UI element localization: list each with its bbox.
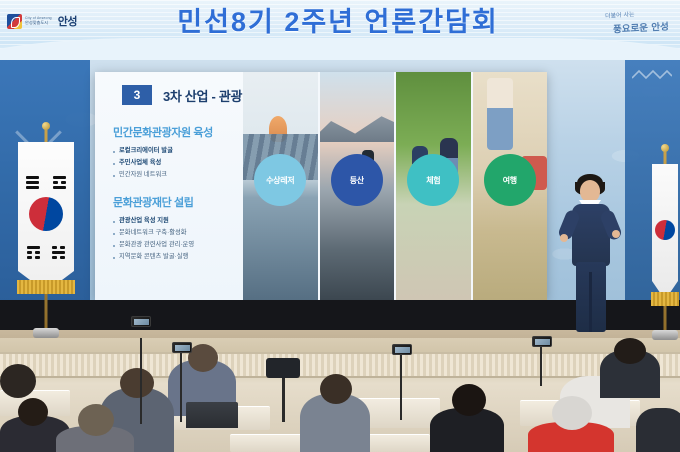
list-item: 로컬크리에이터 발굴	[113, 145, 235, 157]
smartphone-on-tripod	[392, 344, 412, 355]
korean-national-flag	[12, 128, 80, 338]
photo-panel-hiking: 등산	[318, 72, 395, 300]
bullet-list: 관광산업 육성 지원 문화네트워크 구축·활성화 문화관광 관련사업 관리·운영…	[113, 215, 235, 263]
anseong-city-logo-icon	[7, 14, 22, 29]
flag-stand-base	[33, 328, 59, 338]
presenter-left-hand	[560, 234, 568, 242]
flag-cloth	[652, 164, 678, 300]
tripod-leg	[180, 352, 182, 422]
smartphone-on-tripod	[172, 342, 192, 353]
presenter-trousers	[576, 262, 606, 332]
video-camera	[266, 358, 300, 378]
bullet-group: 문화관광재단 설립 관광산업 육성 지원 문화네트워크 구축·활성화 문화관광 …	[113, 194, 235, 263]
presentation-slide: 3 3차 산업 - 관광 STRATEGY 1. 경제 민간문화관광자원 육성 …	[95, 72, 547, 300]
tripod-leg	[282, 378, 285, 422]
list-item: 주민사업체 육성	[113, 157, 235, 169]
city-slogan: 더불어 사는 풍요로운 안성	[599, 10, 677, 40]
projection-screen: 3 3차 산업 - 관광 STRATEGY 1. 경제 민간문화관광자원 육성 …	[95, 72, 547, 300]
list-item: 민간자원 네트워크	[113, 169, 235, 181]
city-logo-kr-small: 안성맞춤도시	[25, 21, 52, 25]
screenshot-root: 3 3차 산업 - 관광 STRATEGY 1. 경제 민간문화관광자원 육성 …	[0, 0, 680, 452]
audience-area	[0, 338, 680, 452]
bullet-group-heading: 문화관광재단 설립	[113, 194, 235, 210]
event-banner: City of Anseong 안성맞춤도시 안성 민선8기 2주년 언론간담회…	[0, 0, 680, 60]
attendee-head	[18, 398, 48, 426]
slide-photo-strip: 수상레저 등산 체험 여행	[243, 72, 547, 300]
tripod-leg	[140, 338, 142, 424]
tripod-leg	[540, 346, 542, 386]
presenter-right-hand	[612, 230, 620, 238]
city-flag	[648, 150, 680, 340]
bullet-list: 로컬크리에이터 발굴 주민사업체 육성 민간자원 네트워크	[113, 145, 235, 181]
attendee-head	[188, 344, 218, 372]
attendee-head	[552, 396, 592, 430]
flag-cloth	[18, 142, 74, 292]
list-item: 문화네트워크 구축·활성화	[113, 227, 235, 239]
bullet-group: 민간문화관광자원 육성 로컬크리에이터 발굴 주민사업체 육성 민간자원 네트워…	[113, 124, 235, 181]
smartphone-on-tripod	[131, 316, 151, 327]
photo-label-bubble: 등산	[331, 154, 383, 206]
flag-fringe	[651, 292, 679, 306]
flag-stand-base	[652, 330, 678, 340]
city-logo-text: City of Anseong 안성맞춤도시	[25, 17, 52, 26]
flag-fringe	[17, 280, 75, 294]
photo-label-bubble: 체험	[407, 154, 459, 206]
presenter-head	[580, 180, 600, 202]
smartphone-on-tripod	[532, 336, 552, 347]
list-item: 지역문화 콘텐츠 발굴·실행	[113, 251, 235, 263]
attendee-head	[120, 368, 154, 398]
attendee-head	[452, 384, 486, 416]
flag-pole-finial	[42, 122, 50, 130]
laptop	[186, 402, 238, 428]
photo-label-bubble: 수상레저	[254, 154, 306, 206]
attendee-head	[78, 404, 114, 436]
slide-bullet-column: 민간문화관광자원 육성 로컬크리에이터 발굴 주민사업체 육성 민간자원 네트워…	[113, 124, 235, 276]
attendee-head	[614, 338, 646, 364]
attendee-head	[0, 364, 36, 398]
slide-title: 3차 산업 - 관광	[163, 86, 242, 105]
zigzag-decoration-icon	[632, 68, 672, 82]
presenter-speaking	[560, 174, 622, 338]
city-slogan-line1: 더불어 사는	[605, 9, 635, 20]
banner-title: 민선8기 2주년 언론간담회	[108, 1, 568, 37]
list-item: 문화관광 관련사업 관리·운영	[113, 239, 235, 251]
slide-section-badge: 3	[122, 85, 152, 105]
bullet-group-heading: 민간문화관광자원 육성	[113, 124, 235, 140]
city-logo: City of Anseong 안성맞춤도시 안성	[7, 13, 77, 29]
banner-subtitle: 2024. 07. 02.(화) 10:30 4층 대회의실	[108, 38, 568, 49]
city-logo-kr-big: 안성	[58, 13, 77, 29]
city-slogan-line2: 풍요로운 안성	[613, 19, 669, 36]
list-item: 관광산업 육성 지원	[113, 215, 235, 227]
photo-label-bubble: 여행	[484, 154, 536, 206]
attendee-head	[320, 374, 352, 404]
attendee	[636, 408, 680, 452]
photo-panel-travel: 여행	[471, 72, 548, 300]
photo-panel-experience: 체험	[394, 72, 471, 300]
taeguk-circle-icon	[655, 220, 675, 240]
tripod-leg	[400, 354, 402, 420]
flag-pole-finial	[661, 144, 669, 152]
photo-panel-water-leisure: 수상레저	[243, 72, 318, 300]
taeguk-circle-icon	[29, 197, 63, 231]
